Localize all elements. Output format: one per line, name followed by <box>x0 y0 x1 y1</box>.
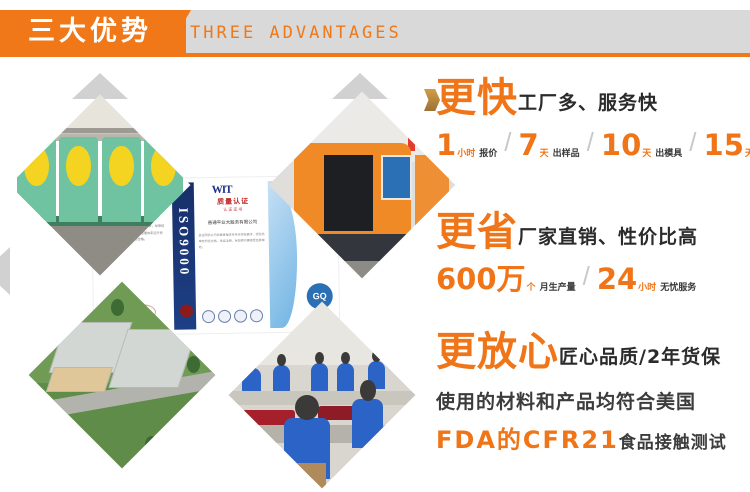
photo-assembly-line-workers <box>229 302 416 489</box>
promo-banner: 三大优势 THREE ADVANTAGES 中人员食品包装备查单 此证明本公司产… <box>0 0 750 492</box>
metric-item: 24小时无忧服务 <box>597 265 696 294</box>
diamond-inner <box>296 119 428 251</box>
photo-factory-aerial-view <box>29 282 216 469</box>
metric-separator: / <box>583 261 590 292</box>
advantage-subtitle: 工厂多、服务快 <box>518 92 658 114</box>
metric-number: 10 <box>601 131 641 160</box>
metric-label: 出模具 <box>655 146 682 159</box>
advantage-title: 更放心 <box>436 329 559 375</box>
advantage-headline: 更省厂家直销、性价比高 <box>436 209 750 255</box>
worker-figure <box>311 363 328 392</box>
photo-tile-assembly-line <box>232 305 412 485</box>
advantage-block-faster: 更快工厂多、服务快 1小时报价 / 7天出样品 / 10天出模具 / 15天出大… <box>436 75 750 160</box>
tree-icon <box>38 337 51 354</box>
machine-unit <box>144 137 183 222</box>
photo-collage: 中人员食品包装备查单 此证明本公司产品符合相关标准要求，经审核评定合格，特发此证… <box>0 57 435 492</box>
advantage-headline: 更快工厂多、服务快 <box>436 75 750 121</box>
photo-tile-punch-press <box>10 95 190 275</box>
photo-beam <box>9 128 190 134</box>
advantage-title: 更快 <box>436 75 518 121</box>
tree-icon <box>69 428 82 445</box>
metric-label: 月生产量 <box>540 280 576 293</box>
fda-standard-label: FDA的CFR21 <box>436 426 619 454</box>
photo-floor <box>9 222 190 276</box>
metric-separator: / <box>587 127 594 158</box>
metric-number: 7 <box>518 131 538 160</box>
factory-building-roof <box>46 367 113 392</box>
metric-number: 24 <box>597 265 637 294</box>
carton-box <box>292 463 326 488</box>
metric-unit: 个 <box>527 280 536 293</box>
metric-number: 600万 <box>436 265 526 294</box>
work-bench <box>229 391 416 404</box>
tree-icon <box>145 436 158 453</box>
worker-figure <box>273 365 290 394</box>
diamond-frame <box>29 282 216 469</box>
photo-punch-press-machines <box>9 94 190 275</box>
advantage-certification-line: FDA的CFR21食品接触测试 <box>436 420 750 455</box>
metric-separator: / <box>504 127 511 158</box>
worker-figure <box>352 399 382 448</box>
advantages-copy: 更快工厂多、服务快 1小时报价 / 7天出样品 / 10天出模具 / 15天出大… <box>436 57 750 492</box>
machine-control-panel <box>381 155 412 201</box>
tile-shadow-left <box>0 247 10 295</box>
metric-label: 无忧服务 <box>660 280 696 293</box>
tree-icon <box>111 299 124 316</box>
fda-test-label: 食品接触测试 <box>619 433 727 453</box>
worker-figure <box>337 363 354 392</box>
advantage-block-reliable: 更放心匠心品质/2年货保 使用的材料和产品均符合美国 FDA的CFR21食品接触… <box>436 329 750 455</box>
photo-cnc-machine <box>269 92 456 279</box>
accreditation-mark-icon <box>218 310 231 323</box>
photo-tile-cnc-machine <box>272 95 452 275</box>
certificate-body-text: 兹证明该公司质量管理体系符合标准要求，经现场审核判定合格，批准注册。有效期内需接… <box>199 231 267 250</box>
advantage-title: 更省 <box>436 209 518 255</box>
photo-ceiling <box>9 94 190 129</box>
advantage-headline: 更放心匠心品质/2年货保 <box>436 329 750 375</box>
diamond-frame <box>269 92 456 279</box>
machine-base <box>290 234 419 261</box>
metric-unit: 天 <box>540 146 549 159</box>
header-title-cn: 三大优势 <box>28 14 152 50</box>
photo-tile-factory-aerial <box>32 285 212 465</box>
metric-item: 1小时报价 <box>436 131 497 160</box>
metric-label: 报价 <box>479 146 497 159</box>
metric-number: 15 <box>704 131 744 160</box>
signal-lamp-green-icon <box>408 113 416 124</box>
certificate-brand: WIT <box>212 184 232 196</box>
metric-separator: / <box>689 127 696 158</box>
diamond-inner <box>256 329 388 461</box>
header-title-en: THREE ADVANTAGES <box>190 20 402 46</box>
photo-rail <box>9 216 190 225</box>
certificate-subtitle: 认证证书 <box>200 206 266 213</box>
machine-unit <box>17 137 56 222</box>
metric-item: 15天出大货 <box>704 131 750 160</box>
metric-item: 10天出模具 <box>601 131 682 160</box>
metric-label: 出样品 <box>553 146 580 159</box>
advantage-detail-line: 使用的材料和产品均符合美国 <box>436 387 750 414</box>
machine-unit <box>59 137 98 222</box>
metric-item: 7天出样品 <box>518 131 579 160</box>
advantage-subtitle: 匠心品质/2年货保 <box>559 346 721 368</box>
metric-number: 1 <box>436 131 456 160</box>
diamond-frame <box>229 302 416 489</box>
diamond-frame <box>9 94 190 275</box>
metric-unit: 天 <box>642 146 651 159</box>
diamond-inner <box>56 309 188 441</box>
metric-unit: 小时 <box>638 280 656 293</box>
metric-unit: 小时 <box>457 146 475 159</box>
advantage-block-cheaper: 更省厂家直销、性价比高 600万个月生产量 / 24小时无忧服务 <box>436 209 750 294</box>
certificate-company: 普通平业大股务有限公司 <box>198 219 266 226</box>
advantage-metrics: 1小时报价 / 7天出样品 / 10天出模具 / 15天出大货 <box>436 129 750 160</box>
diamond-inner <box>36 121 164 249</box>
metric-unit: 天 <box>745 146 750 159</box>
tree-icon <box>187 356 200 373</box>
machine-door <box>324 155 373 231</box>
metric-item: 600万个月生产量 <box>436 265 576 294</box>
advantage-metrics: 600万个月生产量 / 24小时无忧服务 <box>436 263 750 294</box>
advantage-subtitle: 厂家直销、性价比高 <box>518 226 698 248</box>
machine-unit <box>102 137 141 222</box>
